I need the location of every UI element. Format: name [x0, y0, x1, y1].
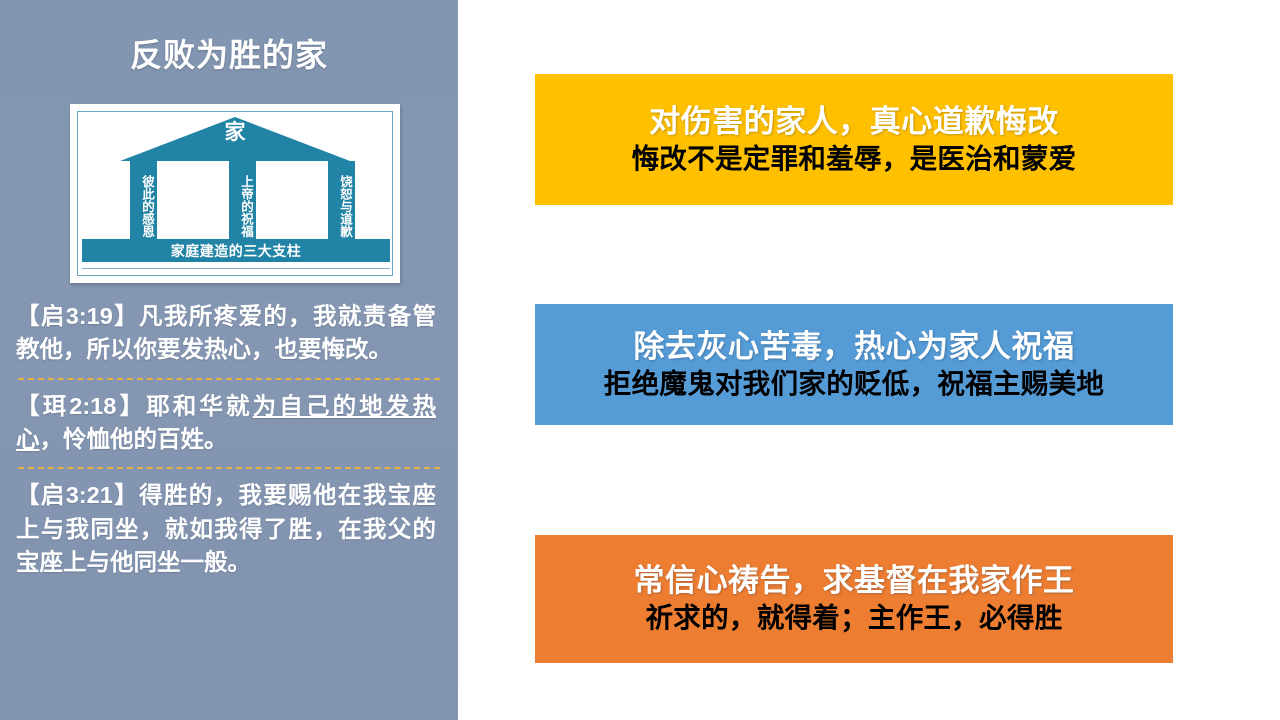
roof-label: 家: [225, 122, 246, 143]
scripture-verse-3: 【启3:21】得胜的，我要赐他在我宝座上与我同坐，就如我得了胜，在我父的宝座上与…: [0, 479, 458, 579]
pillar-gods-blessing: 上帝的祝福: [229, 161, 256, 249]
left-panel: 反败为胜的家 家 彼此的感恩 上帝的祝福 饶恕与道歉 家庭建造的三大支柱 【启3…: [0, 0, 458, 720]
point-headline: 常信心祷告，求基督在我家作王: [634, 562, 1075, 600]
verse-text: 耶和华就: [146, 393, 253, 419]
scripture-verse-2: 【珥2:18】耶和华就为自己的地发热心，怜恤他的百姓。: [0, 390, 458, 457]
figure-base-rule: [82, 268, 390, 269]
point-headline: 除去灰心苦毒，热心为家人祝福: [634, 328, 1075, 366]
verse-reference: 【珥2:18】: [16, 393, 146, 419]
verse-reference: 【启3:21】: [16, 482, 139, 508]
presentation-slide: 反败为胜的家 家 彼此的感恩 上帝的祝福 饶恕与道歉 家庭建造的三大支柱 【启3…: [0, 0, 1280, 720]
pillar-forgiveness-apology: 饶恕与道歉: [328, 161, 355, 249]
three-pillars-figure: 家 彼此的感恩 上帝的祝福 饶恕与道歉 家庭建造的三大支柱: [70, 104, 400, 283]
point-headline: 对伤害的家人，真心道歉悔改: [649, 103, 1059, 141]
scripture-verse-1: 【启3:19】凡我所疼爱的，我就责备管教他，所以你要发热心，也要悔改。: [0, 300, 458, 367]
point-subline: 拒绝魔鬼对我们家的贬低，祝福主赐美地: [604, 367, 1104, 401]
point-box-prayer: 常信心祷告，求基督在我家作王 祈求的，就得着；主作王，必得胜: [535, 535, 1173, 663]
point-box-repentance: 对伤害的家人，真心道歉悔改 悔改不是定罪和羞辱，是医治和蒙爱: [535, 74, 1173, 205]
pillar-gratitude: 彼此的感恩: [130, 161, 157, 249]
point-box-blessing: 除去灰心苦毒，热心为家人祝福 拒绝魔鬼对我们家的贬低，祝福主赐美地: [535, 304, 1173, 425]
figure-base-label: 家庭建造的三大支柱: [82, 239, 390, 262]
verse-divider: [18, 378, 440, 380]
verse-divider: [18, 467, 440, 469]
verse-text-tail: ，怜恤他的百姓。: [40, 426, 228, 452]
point-subline: 悔改不是定罪和羞辱，是医治和蒙爱: [632, 142, 1077, 176]
point-subline: 祈求的，就得着；主作王，必得胜: [646, 601, 1063, 635]
figure-canvas: 家 彼此的感恩 上帝的祝福 饶恕与道歉 家庭建造的三大支柱: [77, 111, 393, 276]
page-title: 反败为胜的家: [0, 30, 458, 76]
verse-reference: 【启3:19】: [16, 303, 139, 329]
scripture-list: 【启3:19】凡我所疼爱的，我就责备管教他，所以你要发热心，也要悔改。 【珥2:…: [0, 300, 458, 580]
